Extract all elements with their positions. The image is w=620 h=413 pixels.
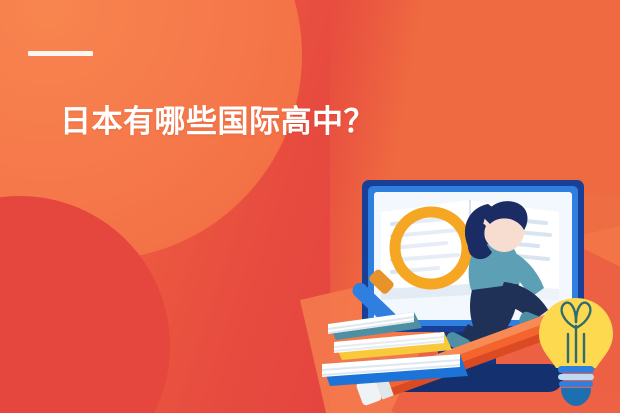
poster-canvas: 日本有哪些国际高中？ xyxy=(0,0,620,413)
page-title: 日本有哪些国际高中？ xyxy=(60,102,375,142)
title-accent-rule xyxy=(28,51,93,56)
study-search-illustration xyxy=(318,172,620,413)
